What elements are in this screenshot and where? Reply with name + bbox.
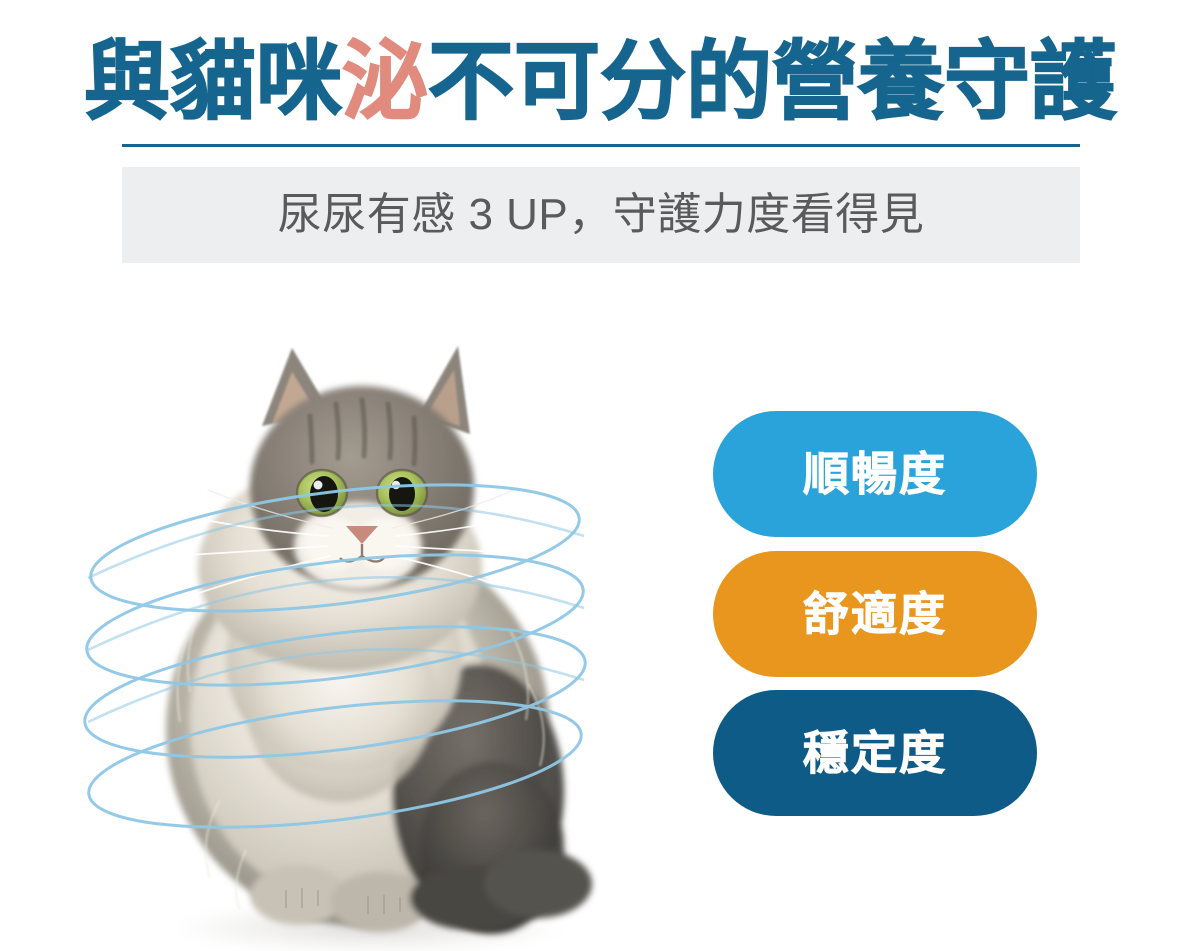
feature-pill-stability[interactable]: 穩定度 (713, 690, 1037, 816)
subtitle-text: 尿尿有感 3 UP，守護力度看得見 (278, 189, 925, 241)
subtitle-band: 尿尿有感 3 UP，守護力度看得見 (122, 167, 1080, 263)
feature-pill-comfort[interactable]: 舒適度 (713, 551, 1037, 677)
feature-pill-label: 舒適度 (803, 591, 947, 637)
page-title-part-2: 不可分的營養守護 (428, 34, 1116, 130)
promo-poster: 與貓咪泌不可分的營養守護 尿尿有感 3 UP，守護力度看得見 (0, 0, 1200, 951)
feature-pill-smoothness[interactable]: 順暢度 (713, 411, 1037, 537)
feature-pill-label: 順暢度 (803, 451, 947, 497)
page-title: 與貓咪泌不可分的營養守護 (0, 34, 1200, 130)
page-title-accent: 泌 (342, 34, 428, 130)
title-divider (122, 144, 1080, 147)
cat-photo (40, 330, 680, 951)
feature-pill-label: 穩定度 (803, 730, 947, 776)
hero-cat-stage (40, 330, 680, 951)
page-title-part-1: 與貓咪 (84, 34, 342, 130)
